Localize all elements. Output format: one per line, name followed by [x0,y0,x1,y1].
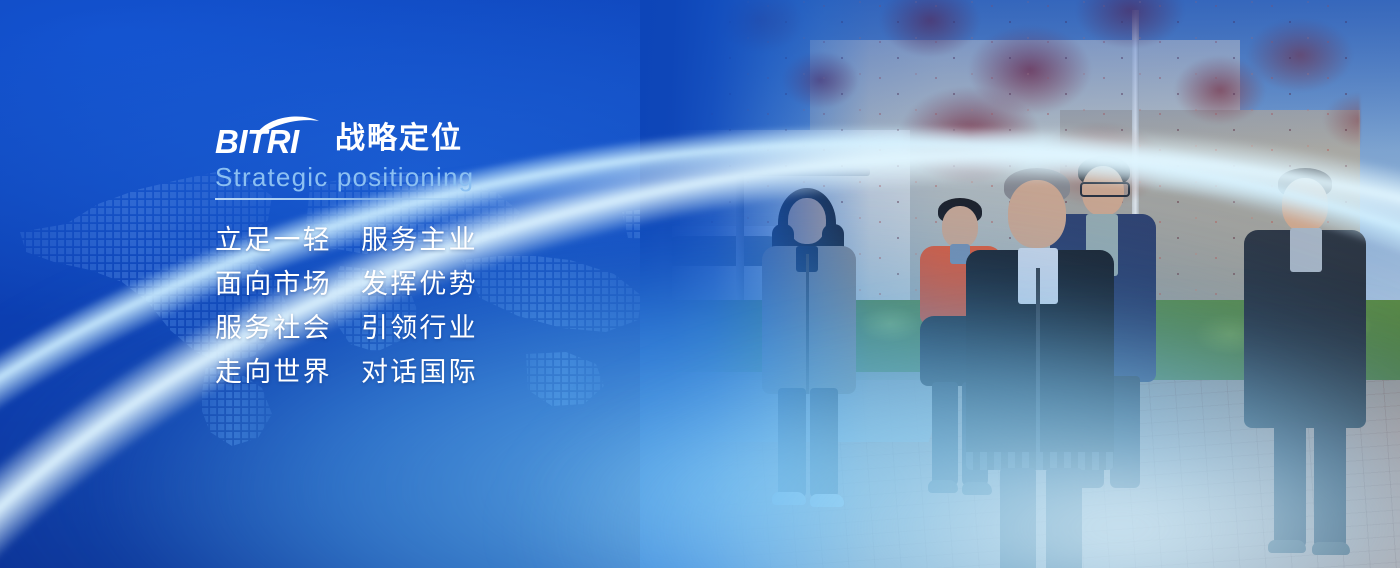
title-row: BITRI 战略定位 [215,112,735,156]
slogan-line-2: 面向市场 发挥优势 [215,262,735,306]
slogan-line-3: 服务社会 引领行业 [215,306,735,350]
slogan-line-1: 立足一轻 服务主业 [215,218,735,262]
banner-content: BITRI 战略定位 Strategic positioning 立足一轻 服务… [215,112,735,394]
subtitle-english: Strategic positioning [215,163,735,192]
page-title: 战略定位 [335,124,463,156]
bitri-logo: BITRI [215,116,319,156]
slogan-line-4: 走向世界 对话国际 [215,350,735,394]
title-divider [215,198,491,200]
slogan-list: 立足一轻 服务主业 面向市场 发挥优势 服务社会 引领行业 走向世界 对话国际 [215,218,735,394]
strategic-positioning-banner: BITRI 战略定位 Strategic positioning 立足一轻 服务… [0,0,1400,568]
bitri-wordmark: BITRI [215,125,299,158]
